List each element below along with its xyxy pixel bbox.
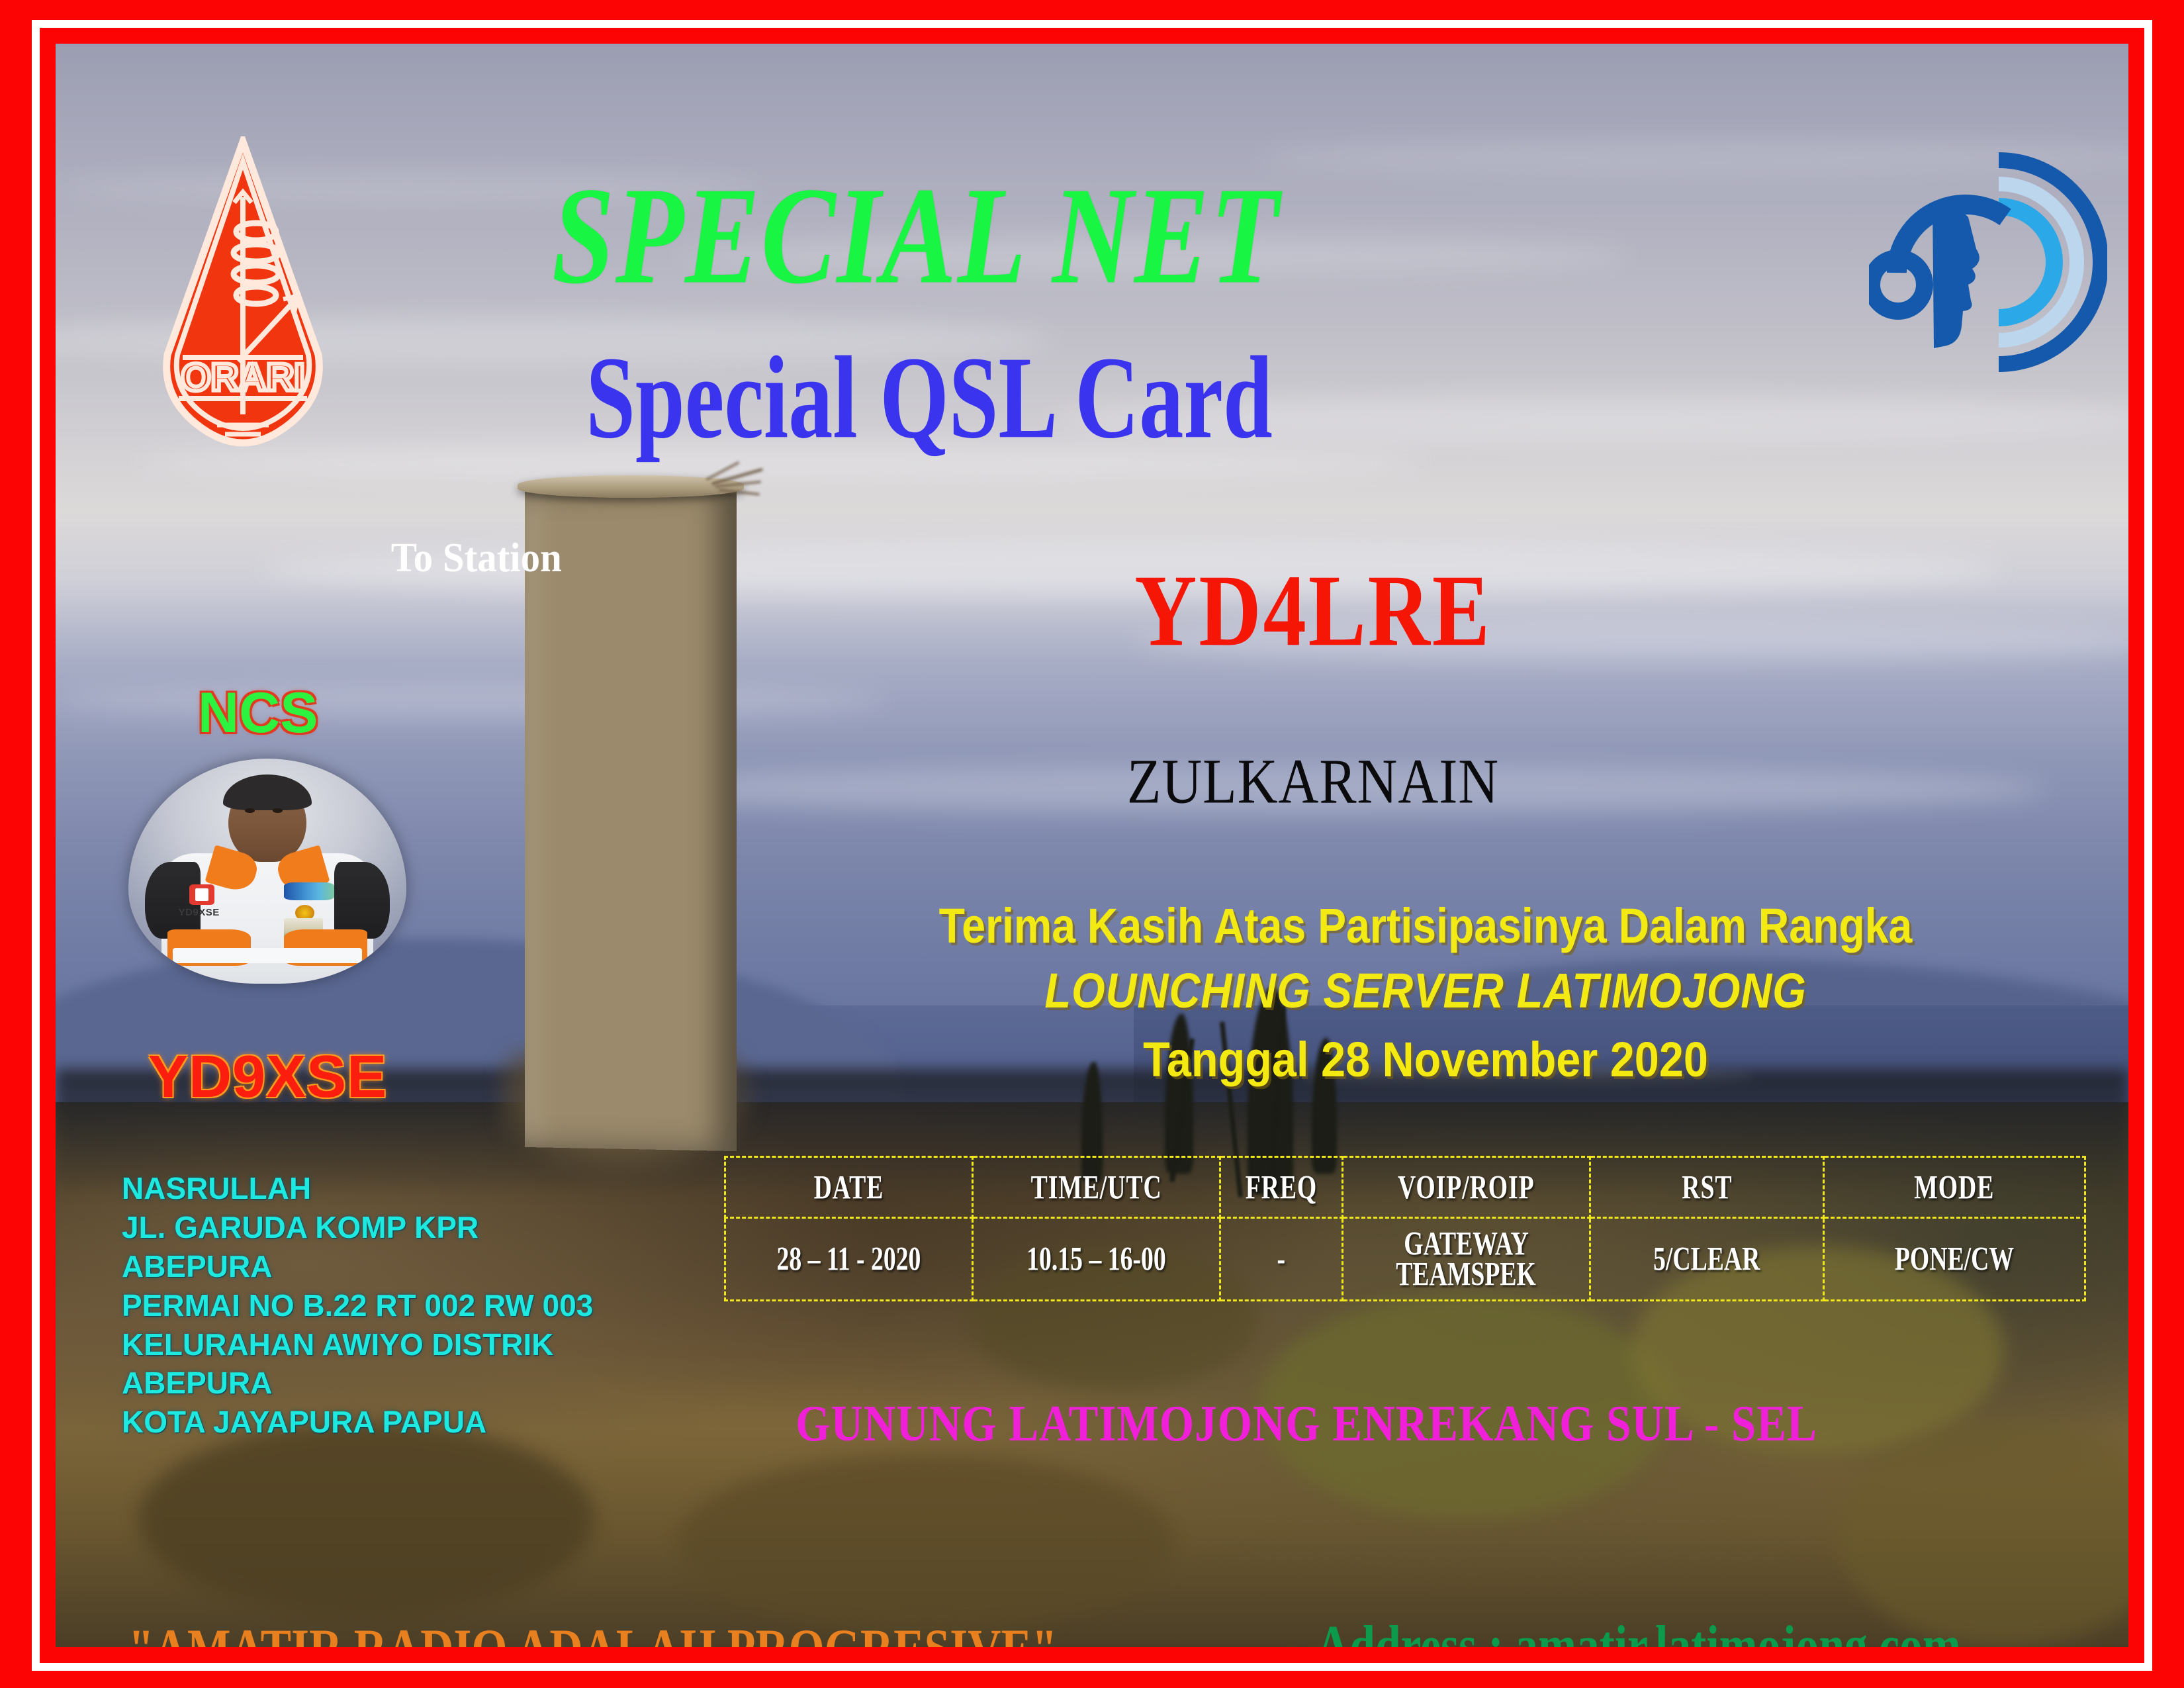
operator-shirt-patch: [189, 884, 214, 905]
ncs-callsign: YD9XSE: [148, 1043, 387, 1111]
ncs-address-block: NASRULLAH JL. GARUDA KOMP KPR ABEPURA PE…: [122, 1169, 678, 1442]
table-row: 28 – 11 - 2020 10.15 – 16-00 - GATEWAY T…: [725, 1218, 2085, 1301]
to-station-label: To Station: [391, 535, 562, 582]
address-line: KOTA JAYAPURA PAPUA: [122, 1403, 678, 1442]
operator-shirt-callsign: YD9XSE: [179, 907, 251, 918]
operator-belt: [173, 948, 362, 964]
operator-shirt-logo: [284, 882, 334, 900]
th-freq: FREQ: [1220, 1157, 1343, 1218]
operator-shoulder-right: [334, 862, 390, 939]
th-mode: MODE: [1824, 1157, 2085, 1218]
table-header-row: DATE TIME/UTC FREQ VOIP/ROIP RST MODE: [725, 1157, 2085, 1218]
th-time-utc: TIME/UTC: [973, 1157, 1220, 1218]
th-voip-roip: VOIP/ROIP: [1342, 1157, 1590, 1218]
th-date: DATE: [725, 1157, 973, 1218]
th-rst: RST: [1590, 1157, 1823, 1218]
td-time-utc: 10.15 – 16-00: [973, 1218, 1220, 1301]
operator-photo-frame: YD9XSE: [128, 759, 406, 984]
operator-eye-left: [245, 808, 254, 813]
headphones-head-icon: [1869, 143, 2107, 381]
voip-headphones-logo: [1869, 143, 2107, 381]
address-line: PERMAI NO B.22 RT 002 RW 003: [122, 1286, 678, 1325]
operator-photo: YD9XSE: [128, 759, 406, 984]
thanks-line: Terima Kasih Atas Partisipasinya Dalam R…: [809, 898, 2042, 954]
address-line: ABEPURA: [122, 1364, 678, 1403]
ncs-label: NCS: [198, 680, 318, 746]
page-title: SPECIAL NET: [99, 155, 1733, 316]
td-rst: 5/CLEAR: [1590, 1218, 1823, 1301]
qso-log-table: DATE TIME/UTC FREQ VOIP/ROIP RST MODE 28…: [724, 1156, 2086, 1301]
page-subtitle: Special QSL Card: [126, 330, 1733, 465]
slogan-text: "AMATIR RADIO ADALAH PROGRESIVE": [128, 1618, 1058, 1647]
event-line: LOUNCHING SERVER LATIMOJONG: [802, 962, 2048, 1019]
address-line: NASRULLAH: [122, 1169, 678, 1208]
address-line: KELURAHAN AWIYO DISTRIK: [122, 1325, 678, 1364]
station-callsign: YD4LRE: [900, 552, 1726, 670]
location-line: GUNUNG LATIMOJONG ENREKANG SUL - SEL: [709, 1395, 1904, 1454]
card-background-photo: ORARI SPECIAL NE: [56, 44, 2128, 1647]
operator-hair: [223, 774, 312, 810]
station-operator-name: ZULKARNAIN: [891, 744, 1735, 818]
td-mode: PONE/CW: [1824, 1218, 2085, 1301]
website-address-text: Address : amatir.latimojong.com: [1316, 1614, 1961, 1647]
operator-eye-right: [273, 808, 282, 813]
td-voip-roip: GATEWAY TEAMSPEK: [1342, 1218, 1590, 1301]
qsl-card: ORARI SPECIAL NE: [0, 0, 2184, 1688]
address-line: JL. GARUDA KOMP KPR: [122, 1208, 678, 1247]
td-freq: -: [1220, 1218, 1343, 1301]
td-date: 28 – 11 - 2020: [725, 1218, 973, 1301]
event-date-line: Tanggal 28 November 2020: [788, 1031, 2063, 1088]
address-line: ABEPURA: [122, 1247, 678, 1286]
